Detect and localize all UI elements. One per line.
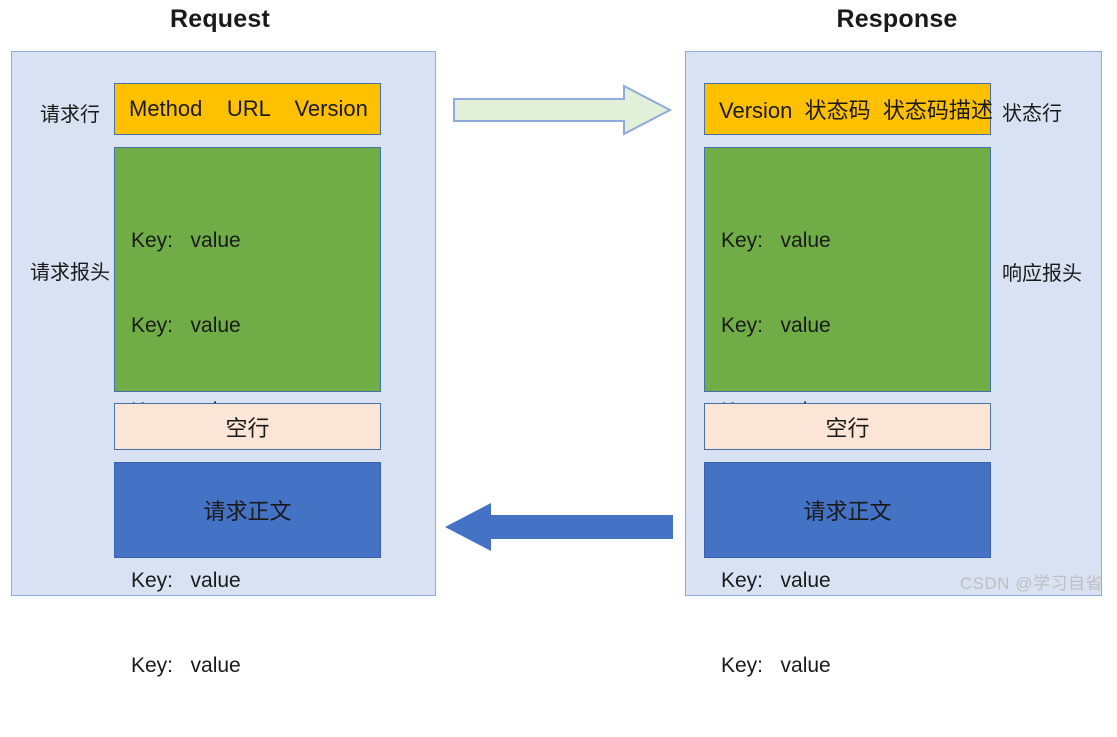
header-row: Key: value — [131, 652, 380, 680]
response-panel: Version 状态码 状态码描述 状态行 Key: value Key: va… — [685, 51, 1102, 596]
response-arrow-left-icon — [443, 495, 675, 559]
response-status-line-box: Version 状态码 状态码描述 — [704, 83, 991, 135]
response-headers-box: Key: value Key: value Key: value Key: va… — [704, 147, 991, 392]
header-row: Key: value — [131, 312, 380, 340]
header-row: Key: value — [721, 567, 990, 595]
diagram-canvas: Request Response 请求行 请求报头 Method URL Ver… — [0, 0, 1117, 602]
request-line-label: 请求行 — [34, 98, 106, 127]
csdn-watermark: CSDN @学习自省 — [960, 569, 1103, 594]
status-line-label: 状态行 — [1002, 97, 1062, 126]
header-row: Key: value — [721, 312, 990, 340]
header-row: Key: value — [131, 227, 380, 255]
header-row: Key: value — [721, 652, 990, 680]
header-row: Key: value — [721, 227, 990, 255]
response-blank-line-box: 空行 — [704, 403, 991, 450]
request-body-box: 请求正文 — [114, 462, 381, 558]
request-start-line-box: Method URL Version — [114, 83, 381, 135]
request-headers-box: Key: value Key: value Key: value Key: va… — [114, 147, 381, 392]
request-panel: 请求行 请求报头 Method URL Version Key: value K… — [11, 51, 436, 596]
response-body-box: 请求正文 — [704, 462, 991, 558]
request-blank-line-box: 空行 — [114, 403, 381, 450]
response-title: Response — [677, 5, 1117, 34]
request-arrow-right-icon — [452, 83, 672, 137]
response-headers-label: 响应报头 — [1002, 257, 1082, 286]
header-row: Key: value — [131, 567, 380, 595]
request-headers-label: 请求报头 — [24, 256, 116, 285]
request-title: Request — [0, 5, 440, 34]
